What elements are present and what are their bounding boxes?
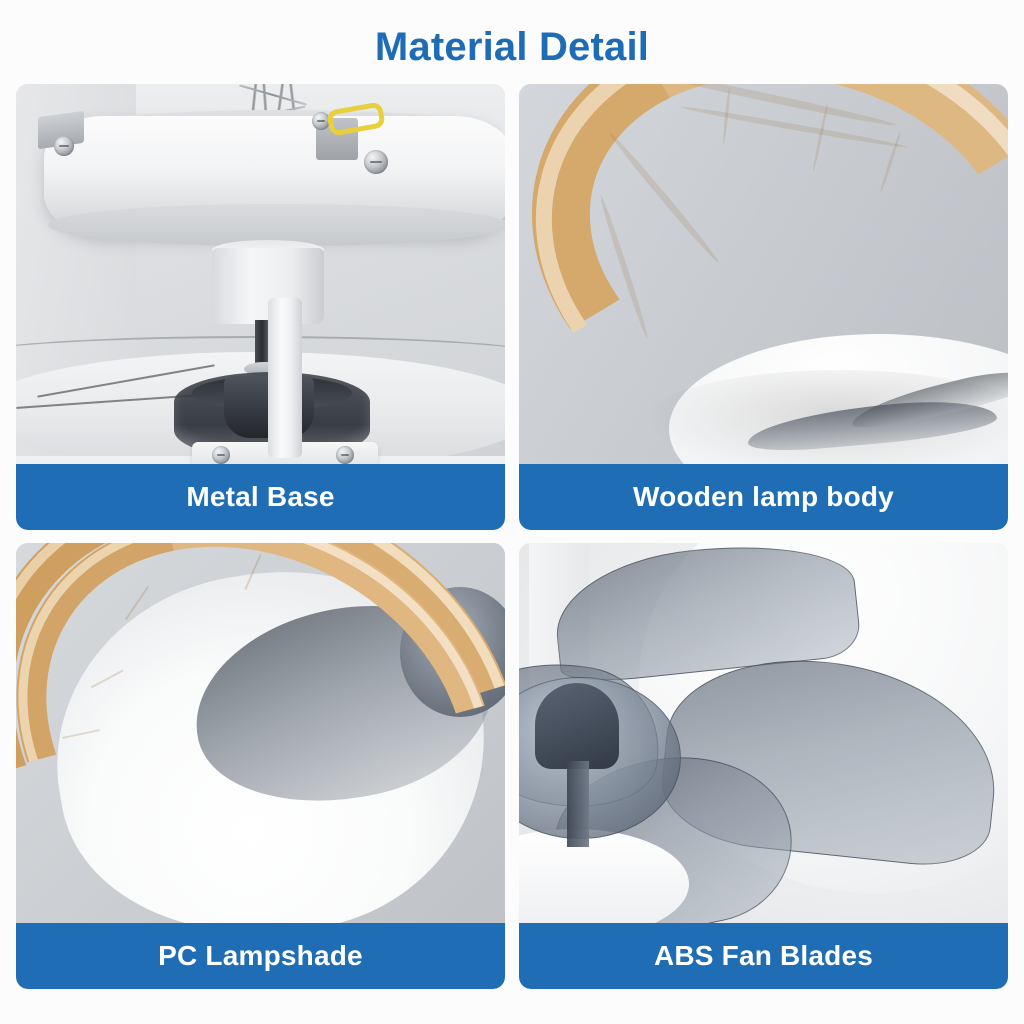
card-caption-pc-lampshade: PC Lampshade [16, 923, 505, 989]
plate-screw [336, 446, 354, 464]
card-caption-wooden-lamp-body: Wooden lamp body [519, 464, 1008, 530]
photo-wooden-lamp-body [519, 84, 1008, 464]
material-card-abs-fan-blades: ABS Fan Blades [519, 543, 1008, 989]
material-card-wooden-lamp-body: Wooden lamp body [519, 84, 1008, 530]
caption-label: Wooden lamp body [633, 481, 894, 513]
caption-label: PC Lampshade [158, 940, 363, 972]
card-caption-abs-fan-blades: ABS Fan Blades [519, 923, 1008, 989]
page-title: Material Detail [0, 22, 1024, 72]
card-caption-metal-base: Metal Base [16, 464, 505, 530]
photo-abs-fan-blades [519, 543, 1008, 923]
plate-screw [212, 446, 230, 464]
material-card-metal-base: Metal Base [16, 84, 505, 530]
fan-hub-stem [567, 761, 589, 847]
material-detail-infographic: Material Detail [0, 0, 1024, 1024]
support-post [268, 298, 302, 458]
wooden-ring-highlight [519, 84, 1008, 464]
material-card-pc-lampshade: PC Lampshade [16, 543, 505, 989]
fan-hub-cap [535, 683, 619, 769]
caption-label: ABS Fan Blades [654, 940, 873, 972]
photo-pc-lampshade [16, 543, 505, 923]
photo-metal-base [16, 84, 505, 464]
chrome-screw [364, 150, 388, 174]
material-cards-grid: Metal Base Wooden lamp body [16, 84, 1008, 989]
chrome-screw [54, 136, 74, 156]
caption-label: Metal Base [186, 481, 334, 513]
